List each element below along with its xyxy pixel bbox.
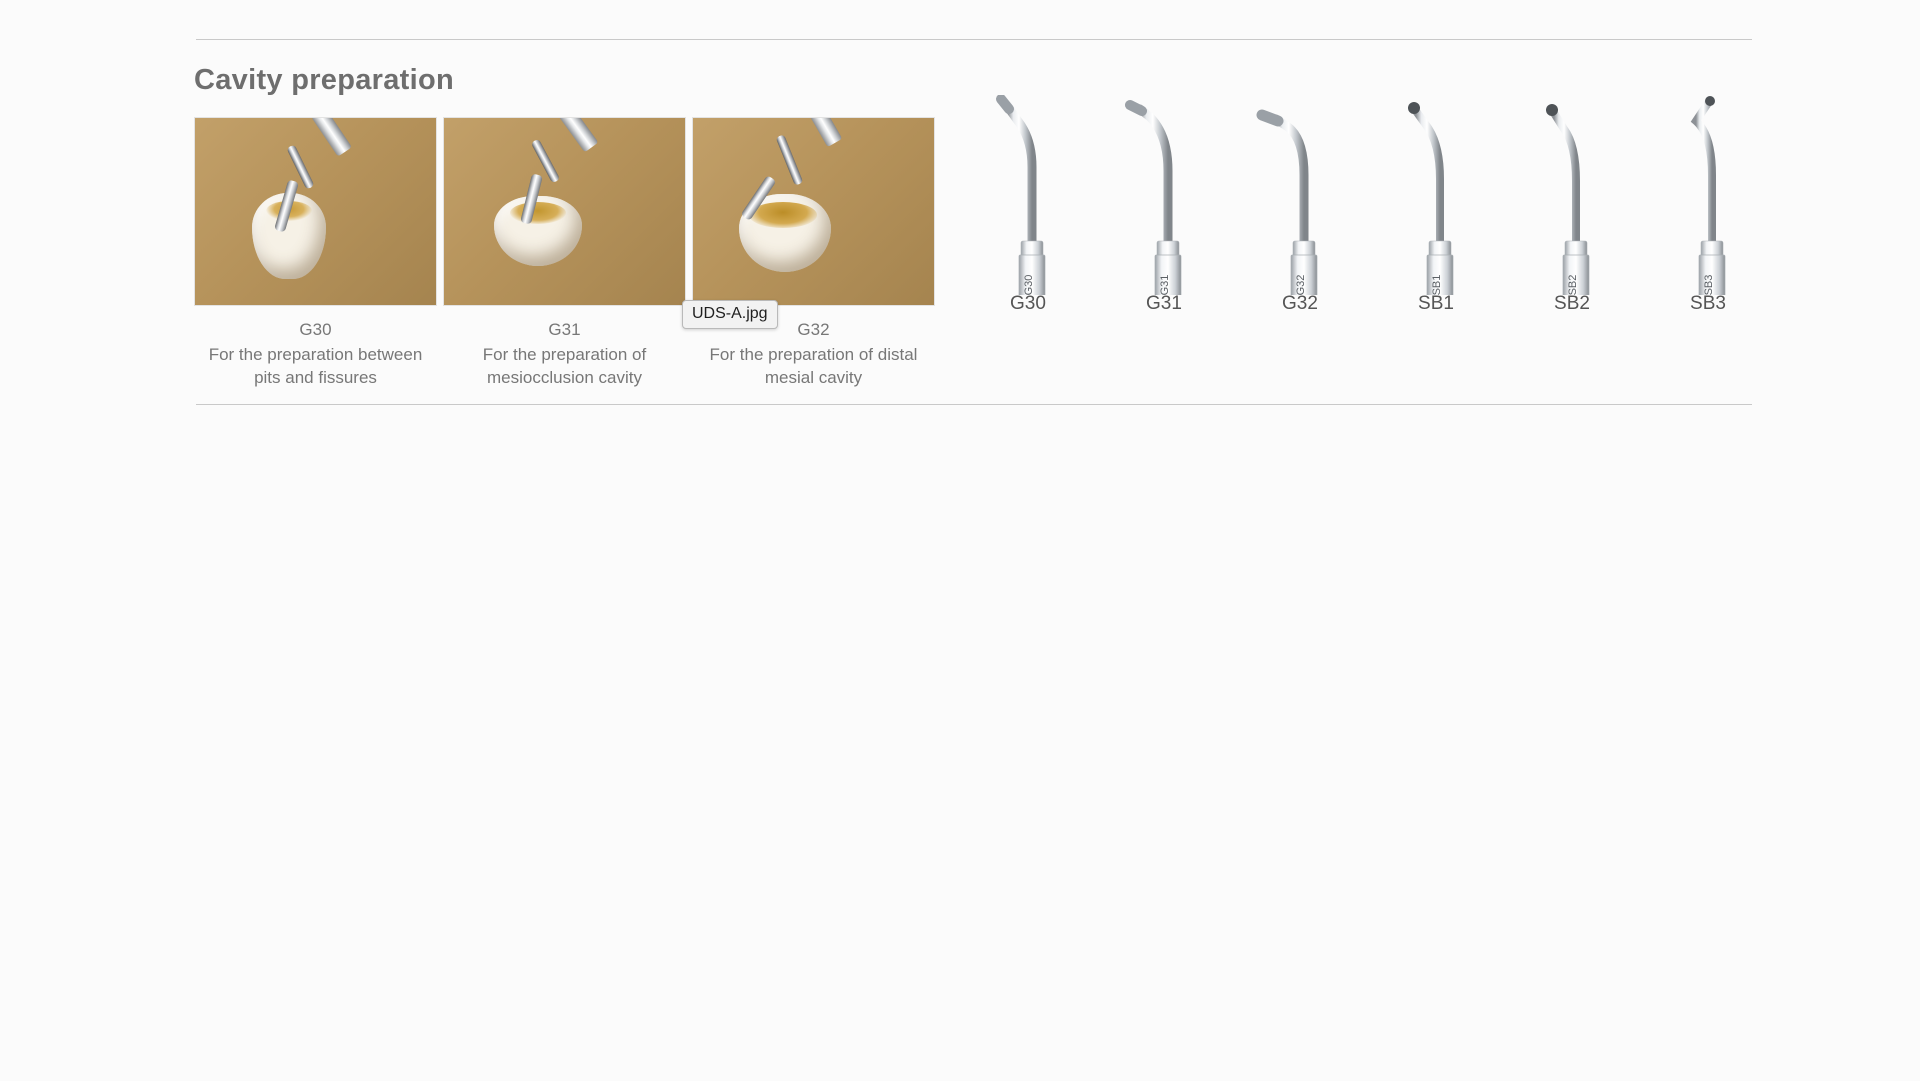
photo-card-list: G30 For the preparation between pits and… — [194, 117, 935, 389]
tip-item-sb3[interactable]: SB3 SB3 — [1640, 95, 1776, 345]
cavity-preparation-photo-g32[interactable] — [692, 117, 935, 306]
cavity-preparation-photo-g31[interactable] — [443, 117, 686, 306]
tip-engraving: G30 — [1023, 275, 1035, 295]
photo-caption: G31 For the preparation of mesiocclusion… — [443, 318, 686, 389]
photo-caption: G30 For the preparation between pits and… — [194, 318, 437, 389]
photo-caption-code: G30 — [194, 318, 437, 341]
tip-label: SB2 — [1504, 293, 1640, 315]
tip-label: G31 — [1096, 293, 1232, 315]
file-name-tooltip: UDS-A.jpg — [682, 300, 778, 329]
tip-engraving: SB3 — [1703, 275, 1715, 295]
photo-caption-code: G31 — [443, 318, 686, 341]
photo-card[interactable]: G30 For the preparation between pits and… — [194, 117, 437, 389]
tip-engraving: G32 — [1295, 275, 1307, 295]
tip-item-g32[interactable]: G32 G32 — [1232, 95, 1368, 345]
photo-caption-description: For the preparation between pits and fis… — [198, 343, 433, 389]
scaler-tip-sb2-icon: SB2 — [1504, 95, 1640, 295]
tip-engraving: SB2 — [1567, 275, 1579, 295]
tip-label: G30 — [960, 293, 1096, 315]
tip-label: SB3 — [1640, 293, 1776, 315]
tip-label: G32 — [1232, 293, 1368, 315]
tip-label: SB1 — [1368, 293, 1504, 315]
tooth-illustration — [494, 196, 582, 266]
scaler-tip-g31-icon: G31 — [1096, 95, 1232, 295]
tip-item-g31[interactable]: G31 G31 — [1096, 95, 1232, 345]
page-title: Cavity preparation — [194, 64, 454, 97]
photo-caption-description: For the preparation of mesiocclusion cav… — [447, 343, 682, 389]
photo-card[interactable]: G31 For the preparation of mesiocclusion… — [443, 117, 686, 389]
divider-bottom — [196, 404, 1752, 405]
tip-item-g30[interactable]: G30 G30 — [960, 95, 1096, 345]
photo-card[interactable]: G32 For the preparation of distal mesial… — [692, 117, 935, 389]
tip-engraving: G31 — [1159, 275, 1171, 295]
scaler-tip-g30-icon: G30 — [960, 95, 1096, 295]
scaler-tip-g32-icon: G32 — [1232, 95, 1368, 295]
tip-engraving: SB1 — [1431, 275, 1443, 295]
scaler-tip-sb3-icon: SB3 — [1640, 95, 1776, 295]
product-detail-page: Cavity preparation G30 For the preparati… — [0, 0, 1920, 1081]
photo-caption-description: For the preparation of distal mesial cav… — [696, 343, 931, 389]
divider-top — [196, 39, 1752, 40]
scaler-tip-sb1-icon: SB1 — [1368, 95, 1504, 295]
cavity-preparation-photo-g30[interactable] — [194, 117, 437, 306]
tip-illustration-list: G30 G30 G31 G31 G32 G32 — [960, 95, 1776, 345]
tip-item-sb1[interactable]: SB1 SB1 — [1368, 95, 1504, 345]
tip-item-sb2[interactable]: SB2 SB2 — [1504, 95, 1640, 345]
